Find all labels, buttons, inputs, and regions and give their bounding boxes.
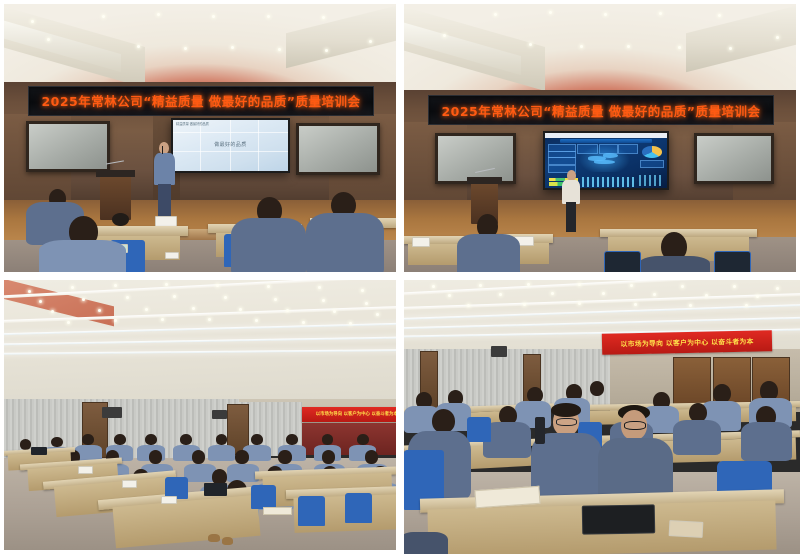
led-banner-text: 2025年常林公司“精益质量 做最好的品质”质量培训会 — [41, 91, 360, 110]
presenter-microphone — [162, 146, 163, 154]
black-folder — [582, 504, 656, 535]
ceiling — [4, 280, 396, 407]
presenter-torso — [562, 180, 580, 204]
desk-card-mid — [165, 252, 180, 259]
speaker-box — [491, 346, 507, 357]
desk-front-panel-left — [408, 244, 463, 265]
ceiling — [404, 4, 796, 100]
shoe-right — [222, 537, 234, 545]
photo-panel-top-right: 2025年常林公司“精益质量 做最好的品质”质量培训会 — [404, 4, 796, 272]
dashboard-bar-chart — [582, 177, 635, 187]
dashboard-header — [560, 139, 652, 143]
wall-red-banner-text: 以市场为导向 以客户为中心 以奋斗者为本 — [621, 336, 754, 349]
door-right-1 — [673, 357, 711, 408]
photo-panel-top-left: 2025年常林公司“精益质量 做最好的品质”质量培训会 精益质量 做最好的品质 … — [4, 4, 396, 272]
stage-name-card — [155, 216, 177, 227]
podium-top — [467, 177, 502, 184]
handheld-microphone — [535, 417, 545, 444]
projection-screen-left — [26, 121, 110, 173]
chair-back-2 — [714, 251, 751, 272]
ceiling-band-right — [686, 4, 796, 72]
dashboard-bar-chart-2 — [639, 175, 662, 186]
ceiling-light-strip-3 — [4, 349, 396, 355]
podium-top — [96, 170, 135, 177]
speaker-hair — [551, 403, 581, 417]
ceiling-light-strip-2 — [4, 336, 396, 345]
slide-title-text: 精益质量 做最好的品质 — [176, 121, 209, 126]
notebook-on-desk — [263, 507, 292, 515]
ceiling-light-strip-2 — [404, 316, 800, 329]
classroom-scene-wide: 以市场为导向 以客户为中心 以奋斗者为本 — [4, 280, 396, 550]
wall-red-banner-text: 以市场为导向 以客户为中心 以奋斗者为本 — [316, 411, 396, 417]
auditorium-scene-2: 2025年常林公司“精益质量 做最好的品质”质量培训会 — [404, 4, 796, 272]
led-banner-text: 2025年常林公司“精益质量 做最好的品质”质量培训会 — [441, 101, 760, 120]
ceiling-band-right — [286, 4, 396, 69]
led-banner: 2025年常林公司“精益质量 做最好的品质”质量培训会 — [28, 86, 375, 116]
projection-screen-right — [296, 123, 380, 175]
ceiling-light-strip-1 — [4, 323, 396, 336]
glasses-icon — [624, 421, 647, 430]
audience-torso-3 — [231, 218, 305, 272]
dashboard-map — [579, 145, 630, 171]
laptop-1 — [204, 483, 228, 497]
chair-back-1 — [604, 251, 641, 272]
presenter-legs — [158, 184, 171, 216]
photo-panel-bottom-right: 以市场为导向 以客户为中心 以奋斗者为本 — [404, 280, 800, 554]
laptop-2 — [31, 447, 47, 455]
dashboard-pie-chart — [642, 146, 661, 158]
auditorium-scene-1: 2025年常林公司“精益质量 做最好的品质”质量培训会 精益质量 做最好的品质 … — [4, 4, 396, 272]
classroom-scene-closeup: 以市场为导向 以客户为中心 以奋斗者为本 — [404, 280, 800, 554]
name-card-left — [412, 237, 430, 247]
ceiling — [4, 4, 396, 92]
audience-torso-1 — [457, 234, 520, 272]
led-banner: 2025年常林公司“精益质量 做最好的品质”质量培训会 — [428, 95, 775, 125]
projection-screen-right — [694, 133, 774, 185]
photo-collage: 2025年常林公司“精益质量 做最好的品质”质量培训会 精益质量 做最好的品质 … — [0, 0, 800, 554]
speaker-box-2 — [212, 410, 228, 419]
glasses-icon — [556, 418, 576, 425]
slide-body-text: 做最好的品质 — [173, 141, 289, 148]
wall-red-banner: 以市场为导向 以客户为中心 以奋斗者为本 — [602, 330, 773, 354]
wall-red-banner: 以市场为导向 以客户为中心 以奋斗者为本 — [302, 407, 396, 422]
main-led-screen — [543, 131, 669, 190]
main-led-screen: 精益质量 做最好的品质 做最好的品质 — [171, 118, 291, 173]
presenter-torso — [154, 153, 175, 185]
audience-torso-4 — [306, 213, 384, 272]
speaker-box-1 — [102, 407, 122, 418]
shoe-left — [208, 534, 220, 542]
dashboard-titlebar — [545, 133, 667, 138]
slide-content: 精益质量 做最好的品质 做最好的品质 — [173, 120, 289, 171]
audience-torso-2 — [39, 240, 125, 272]
desk-row-front-left — [86, 226, 188, 235]
paper-card — [669, 520, 703, 537]
photo-panel-bottom-left: 以市场为导向 以客户为中心 以奋斗者为本 — [4, 280, 396, 550]
attendee-foreground-left — [404, 532, 448, 554]
presenter-legs — [566, 202, 577, 231]
audience-torso-2 — [639, 256, 710, 272]
